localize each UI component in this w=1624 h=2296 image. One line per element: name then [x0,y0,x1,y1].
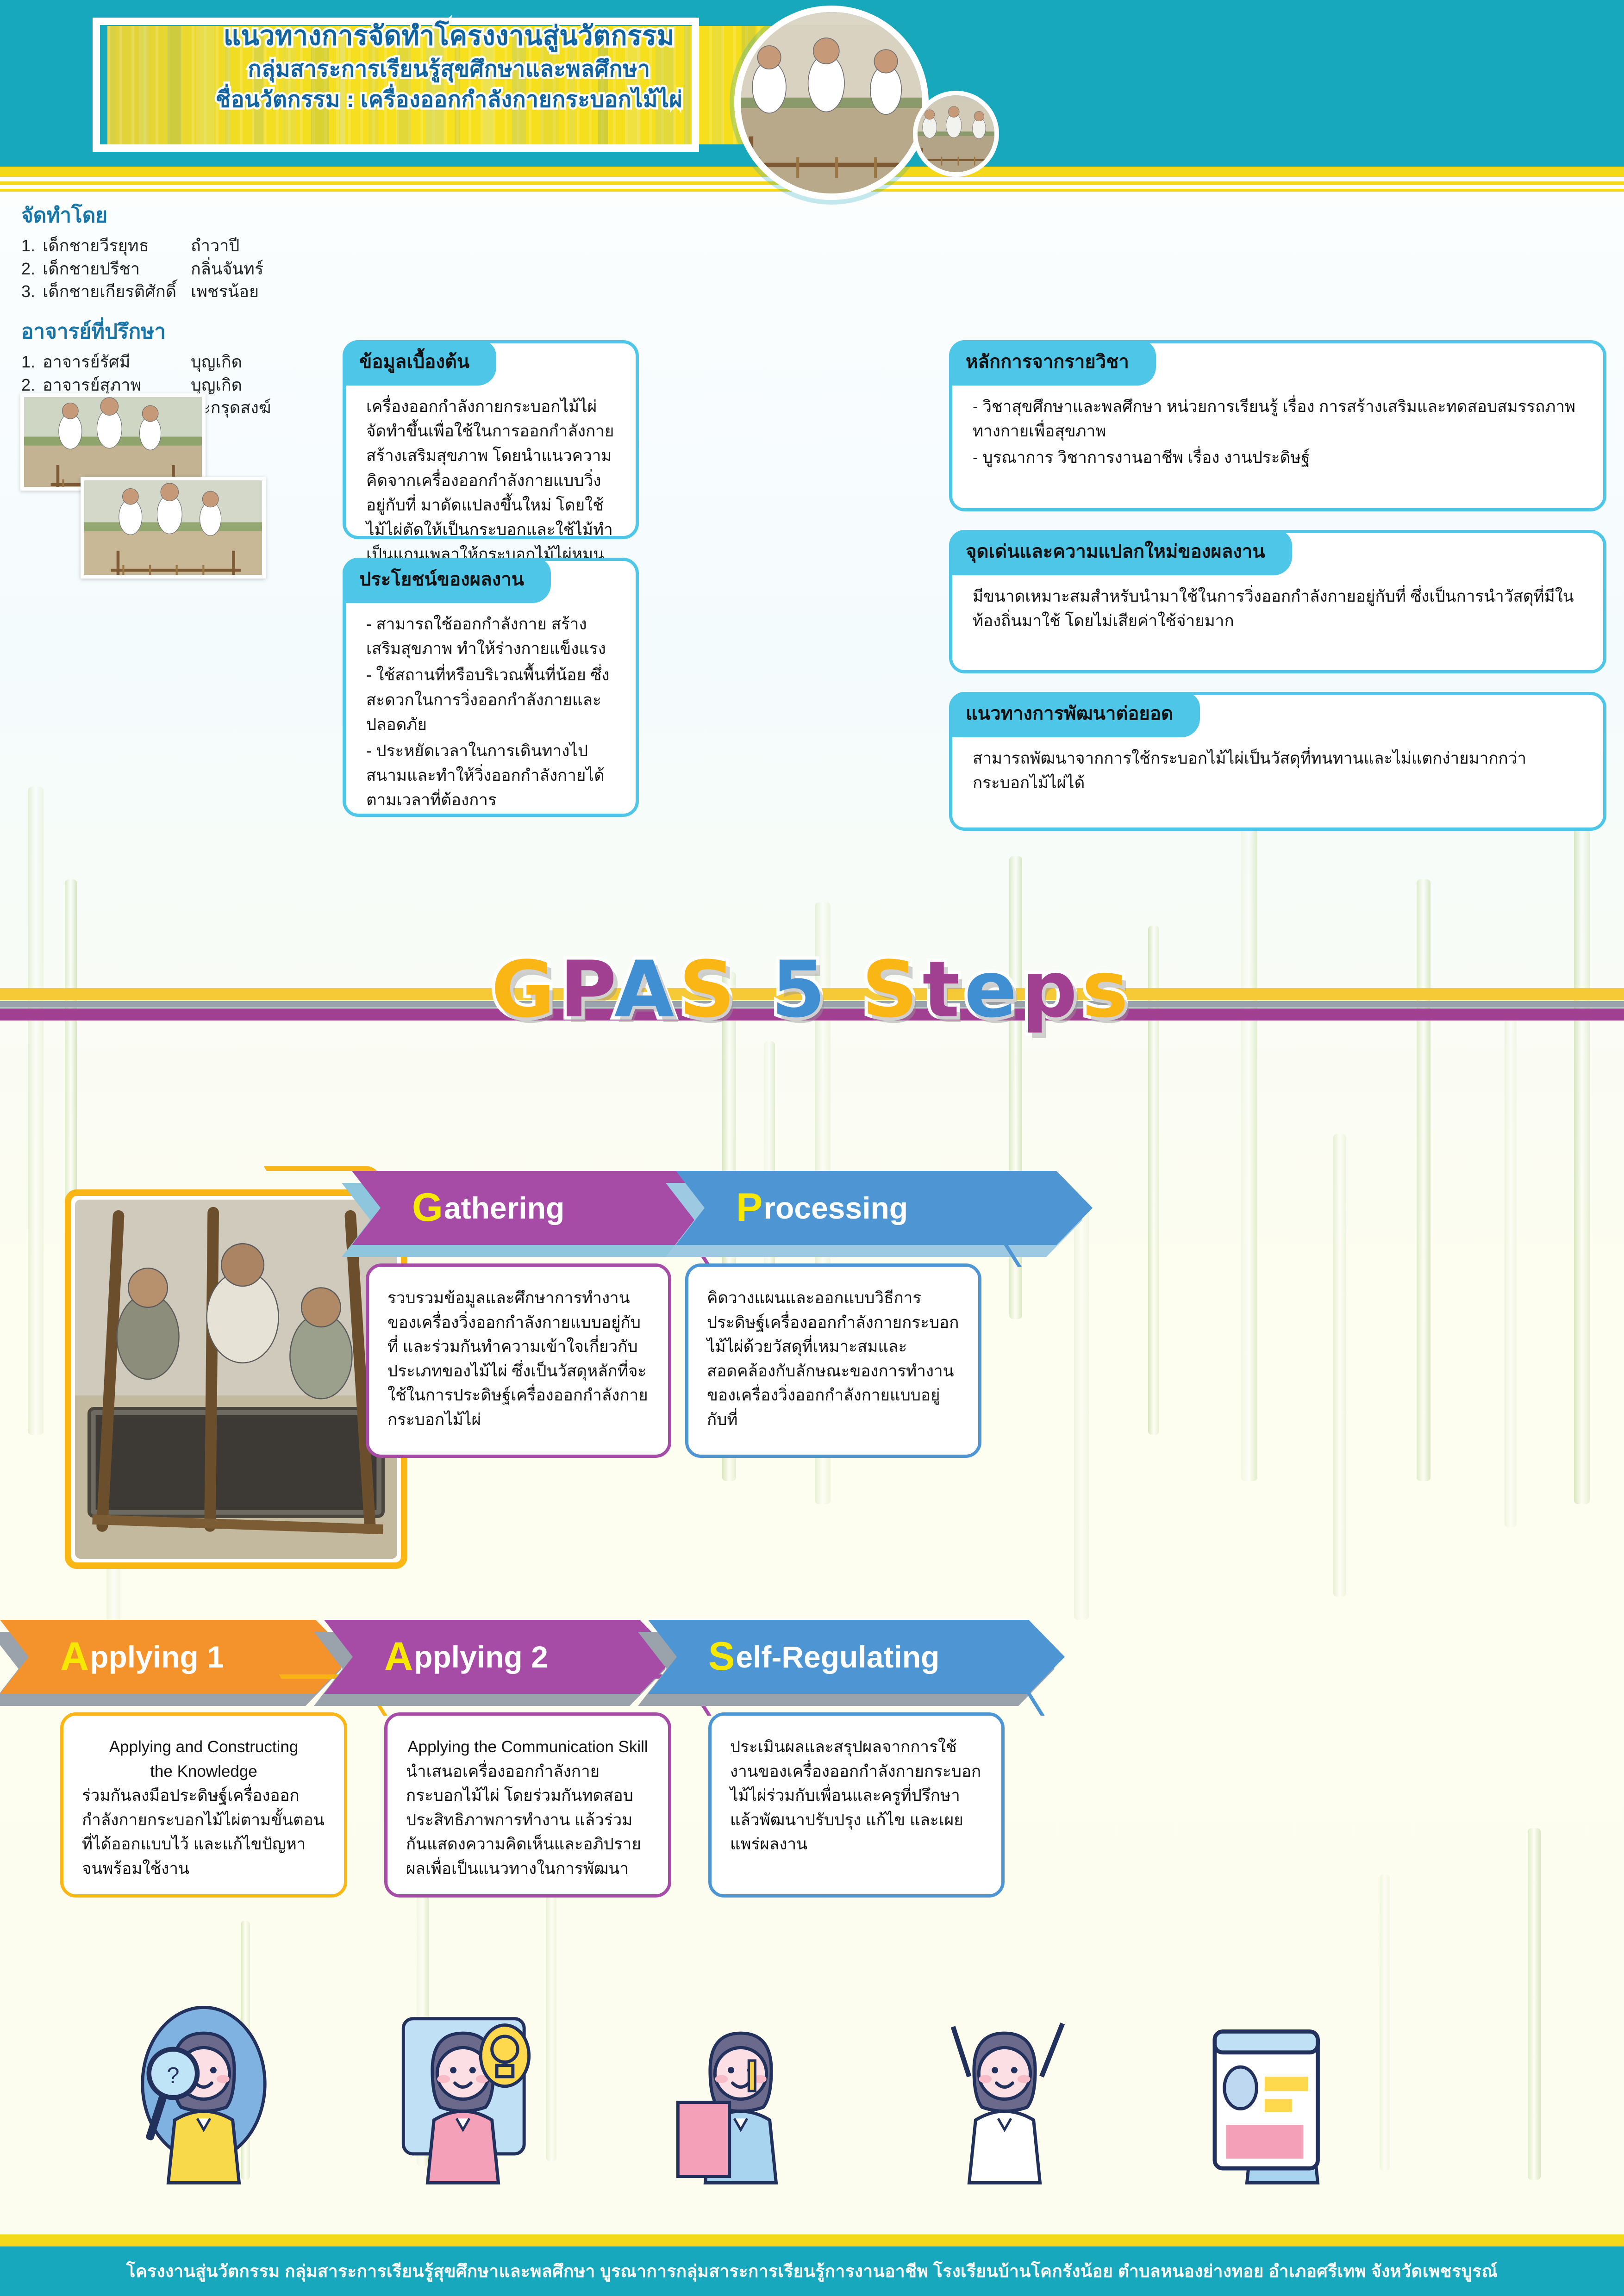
card-future-development-text: สามารถพัฒนาจากการใช้กระบอกไม้ไผ่เป็นวัสด… [973,746,1583,795]
bamboo-stalk [1241,787,1257,1481]
gpas-title-letter: t [923,944,964,1035]
gpas-title-letter: p [1022,944,1082,1035]
step-capital-letter: A [384,1639,413,1674]
poster-title-line-1: แนวทางการจัดทำโครงงานสู่นวัตกรรม [116,21,782,51]
advisor-row: 2. อาจารย์สุภาพ บุญเกิด [21,373,318,397]
bamboo-stalk [1333,1134,1346,1597]
author-index: 3. [21,280,43,303]
step-chevron-rocessing[interactable]: Processing [676,1171,1093,1245]
bamboo-stalk [28,787,44,1435]
author-row: 2. เด็กชายปรีชา กลิ่นจันทร์ [21,257,318,280]
advisor-name: อาจารย์รัศมี [43,350,191,373]
gpas-title-letter: e [964,944,1022,1035]
advisor-name: อาจารย์สุภาพ [43,373,191,397]
author-surname: เพชรน้อย [191,280,318,303]
step-description-box: รวบรวมข้อมูลและศึกษาการทำงานของเครื่องวิ… [366,1263,671,1458]
step-body-text: นำเสนอเครื่องออกกำลังกายกระบอกไม้ไผ่ โดย… [406,1760,650,1881]
step-capital-letter: G [412,1190,443,1226]
step-capital-letter: P [736,1190,762,1226]
card-future-development-title: แนวทางการพัฒนาต่อยอด [949,692,1200,737]
credits-panel: จัดทำโดย 1. เด็กชายวีรยุทธ ถำวาปี 2. เด็… [21,199,318,419]
author-name: เด็กชายปรีชา [43,257,191,280]
card-subject-principles-title: หลักการจากรายวิชา [949,340,1156,386]
character-magnifier-person: ? [106,1999,301,2184]
bamboo-stalk [1574,810,1590,1504]
gpas-title: GPAS 5 Steps [0,944,1624,1035]
step-description-box: ประเมินผลและสรุปผลจากการใช้งานของเครื่อง… [708,1712,1005,1898]
advisor-index: 1. [21,350,43,373]
footer-teal-bar: โครงงานสู่นวัตกรรม กลุ่มสาระการเรียนรู้ส… [0,2246,1624,2296]
step-description-box: Applying and Constructingthe Knowledgeร่… [60,1712,347,1898]
bamboo-stalk [1505,1018,1517,1527]
step-capital-letter: S [708,1639,735,1674]
card-benefits: ประโยชน์ของผลงาน - สามารถใช้ออกกำลังกาย … [343,558,639,817]
benefit-line: - สามารถใช้ออกกำลังกาย สร้างเสริมสุขภาพ … [366,612,615,661]
project-photo-1 [20,393,206,491]
card-highlights-title: จุดเด่นและความแปลกใหม่ของผลงาน [949,530,1292,575]
footer: โครงงานสู่นวัตกรรม กลุ่มสาระการเรียนรู้ส… [0,2234,1624,2296]
card-subject-principles: หลักการจากรายวิชา - วิชาสุขศึกษาและพลศึก… [949,340,1606,511]
step-body-text: รวบรวมข้อมูลและศึกษาการทำงานของเครื่องวิ… [387,1286,650,1432]
header-photo-students-main [734,6,929,200]
authors-heading: จัดทำโดย [21,199,318,231]
gpas-title-letter: P [560,944,614,1035]
step-label: athering [444,1190,564,1226]
advisor-surname: บุญเกิด [191,373,318,397]
gpas-title-letter: s [1082,944,1133,1035]
card-benefits-title: ประโยชน์ของผลงาน [343,558,551,603]
step-subtitle: the Knowledge [82,1760,325,1784]
author-surname: ถำวาปี [191,234,318,257]
bamboo-stalk [1074,1203,1089,1620]
card-future-development: แนวทางการพัฒนาต่อยอด สามารถพัฒนาจากการใช… [949,692,1606,831]
step-subtitle: Applying and Constructing [82,1735,325,1760]
poster-title-line-2: กลุ่มสาระการเรียนรู้สุขศึกษาและพลศึกษา [116,57,782,82]
character-cheering-person [907,1999,1102,2184]
step-label: rocessing [763,1190,908,1226]
header-photo-students-secondary [913,91,999,177]
character-illustrations: ? [0,1990,1624,2221]
character-idea-person [366,1999,560,2184]
benefit-line: - ประหยัดเวลาในการเดินทางไปสนามและทำให้ว… [366,739,615,813]
svg-text:?: ? [167,2063,179,2088]
advisor-row: 1. อาจารย์รัศมี บุญเกิด [21,350,318,373]
step-subtitle: Applying the Communication Skill [406,1735,650,1760]
gpas-title-letter: A [614,944,679,1035]
author-row: 1. เด็กชายวีรยุทธ ถำวาปี [21,234,318,257]
gpas-title-letter: G [491,944,560,1035]
step-body-text: ร่วมกันลงมือประดิษฐ์เครื่องออกกำลังกายกร… [82,1784,325,1881]
character-presenting-person [1185,1999,1380,2184]
step-body-text: ประเมินผลและสรุปผลจากการใช้งานของเครื่อง… [730,1735,983,1857]
benefit-line: - ใช้สถานที่หรือบริเวณพื้นที่น้อย ซึ่งสะ… [366,663,615,737]
card-basic-info-title: ข้อมูลเบื้องต้น [343,340,496,386]
card-highlights: จุดเด่นและความแปลกใหม่ของผลงาน มีขนาดเหม… [949,530,1606,673]
character-writing-person [643,1999,838,2184]
step-capital-letter: A [60,1639,89,1674]
footer-text: โครงงานสู่นวัตกรรม กลุ่มสาระการเรียนรู้ส… [126,2258,1498,2285]
author-index: 1. [21,234,43,257]
advisor-surname: บุญเกิด [191,350,318,373]
gpas-title-letter: S [679,944,740,1035]
step-label: elf-Regulating [736,1639,939,1674]
advisor-index: 2. [21,373,43,397]
step-label: pplying 1 [90,1639,224,1674]
gpas-title-letter: S [862,944,923,1035]
project-photos [20,393,317,583]
gpas-title-letter: 5 [771,944,830,1035]
step-description-box: คิดวางแผนและออกแบบวิธีการประดิษฐ์เครื่อง… [685,1263,981,1458]
step-label: pplying 2 [414,1639,548,1674]
poster-title-block: แนวทางการจัดทำโครงงานสู่นวัตกรรม กลุ่มสา… [116,21,782,112]
card-highlights-text: มีขนาดเหมาะสมสำหรับนำมาใช้ในการวิ่งออกกำ… [973,584,1583,633]
advisors-heading: อาจารย์ที่ปรึกษา [21,315,318,348]
step-body-text: คิดวางแผนและออกแบบวิธีการประดิษฐ์เครื่อง… [707,1286,960,1432]
step-description-box: Applying the Communication Skillนำเสนอเค… [384,1712,671,1898]
author-name: เด็กชายเกียรติศักดิ์ [43,280,191,303]
author-index: 2. [21,257,43,280]
poster-title-line-3: ชื่อนวัตกรรม : เครื่องออกกำลังกายกระบอกไ… [116,87,782,112]
principle-line: - วิชาสุขศึกษาและพลศึกษา หน่วยการเรียนรู… [973,394,1583,443]
project-photo-2 [81,477,266,579]
card-basic-info: ข้อมูลเบื้องต้น เครื่องออกกำลังกายกระบอก… [343,340,639,539]
author-name: เด็กชายวีรยุทธ [43,234,191,257]
author-row: 3. เด็กชายเกียรติศักดิ์ เพชรน้อย [21,280,318,303]
footer-yellow-rule [0,2234,1624,2246]
author-surname: กลิ่นจันทร์ [191,257,318,280]
principle-line: - บูรณาการ วิชาการงานอาชีพ เรื่อง งานประ… [973,445,1583,470]
